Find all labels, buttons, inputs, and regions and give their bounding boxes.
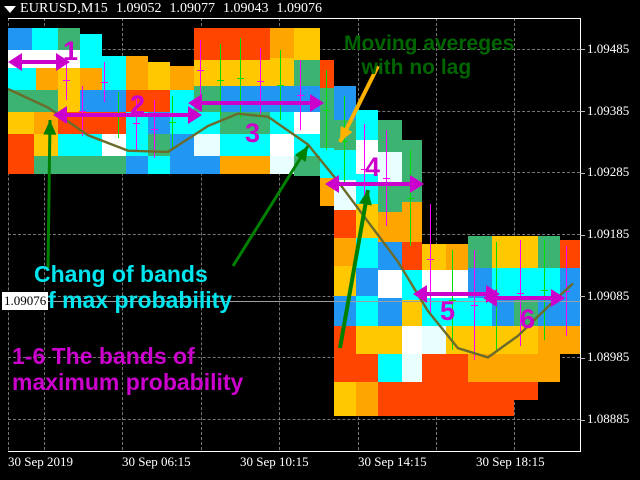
probability-cell	[356, 326, 378, 354]
probability-cell	[148, 112, 170, 134]
band-number-1: 1	[63, 36, 78, 67]
probability-cell	[220, 156, 270, 174]
probability-cell	[378, 382, 402, 416]
probability-cell	[270, 134, 294, 156]
probability-cell	[402, 270, 422, 300]
indicator-spike-cap	[169, 122, 176, 123]
probability-cell	[194, 156, 220, 174]
indicator-spike-cap	[257, 81, 264, 82]
probability-cell	[34, 156, 58, 174]
indicator-spike-cap	[101, 82, 108, 83]
probability-cell	[148, 156, 170, 174]
probability-cell	[356, 110, 378, 140]
probability-cell	[468, 382, 492, 416]
indicator-spike-cap	[151, 129, 158, 130]
probability-cell	[320, 178, 334, 206]
probability-cell	[446, 244, 468, 270]
probability-cell	[8, 28, 32, 50]
probability-cell	[320, 118, 334, 148]
time-tick-label: 30 Sep 18:15	[476, 454, 545, 470]
indicator-spike-cap	[115, 115, 122, 116]
annotation-moving-averages: Moving avereges with no lag	[344, 32, 514, 79]
probability-cell	[334, 326, 356, 354]
probability-cell	[422, 382, 446, 416]
probability-cell	[58, 68, 80, 90]
chart-plot-area[interactable]: 123456Moving avereges with no lagChang o…	[8, 18, 580, 450]
price-tick-label: 1.09185	[580, 226, 629, 242]
probability-cell	[538, 326, 560, 354]
gridline-horizontal	[8, 234, 580, 235]
indicator-spike-cap	[383, 178, 390, 179]
time-tick-label: 30 Sep 2019	[8, 454, 73, 470]
indicator-spike-cap	[517, 293, 524, 294]
probability-cell	[334, 180, 356, 210]
indicator-spike-cap	[323, 110, 330, 111]
probability-cell	[356, 354, 378, 382]
probability-cell	[58, 134, 80, 156]
current-price-tag: 1.09076	[2, 292, 48, 310]
probability-cell	[148, 134, 170, 156]
annotation-band-change: Chang of bands of max probability	[34, 262, 232, 314]
probability-cell	[194, 86, 220, 112]
probability-cell	[356, 268, 378, 296]
indicator-spike-cap	[541, 290, 548, 291]
probability-cell	[194, 112, 220, 134]
probability-cell	[446, 270, 468, 298]
probability-cell	[334, 86, 356, 120]
probability-cell	[538, 268, 560, 298]
indicator-spike-cap	[277, 85, 284, 86]
probability-cell	[270, 156, 294, 174]
probability-cell	[80, 156, 102, 174]
probability-cell	[34, 134, 58, 156]
probability-cell	[8, 90, 34, 112]
band-number-3: 3	[245, 118, 260, 149]
probability-cell	[560, 240, 580, 268]
probability-cell	[148, 90, 170, 112]
probability-cell	[58, 112, 80, 134]
indicator-spike-cap	[133, 123, 140, 124]
probability-cell	[446, 382, 468, 416]
probability-cell	[194, 60, 220, 86]
probability-cell	[220, 86, 270, 112]
probability-cell	[194, 134, 220, 156]
probability-cell	[402, 326, 422, 354]
chevron-down-icon[interactable]	[0, 0, 20, 18]
probability-cell	[378, 242, 402, 270]
indicator-spike-cap	[63, 80, 70, 81]
probability-cell	[8, 112, 34, 134]
indicator-spike-cap	[297, 95, 304, 96]
indicator-spike-cap	[79, 111, 86, 112]
indicator-spike-cap	[493, 297, 500, 298]
probability-cell	[8, 134, 34, 156]
probability-cell	[402, 354, 422, 382]
probability-cell	[170, 156, 194, 174]
probability-cell	[270, 112, 294, 134]
ohlc-open: 1.09052	[116, 1, 162, 17]
chart-title-bar: EURUSD,M15 1.09052 1.09077 1.09043 1.090…	[0, 0, 640, 18]
indicator-spike-cap	[197, 70, 204, 71]
band-number-5: 5	[440, 296, 455, 327]
probability-cell	[294, 86, 320, 112]
probability-cell	[402, 140, 422, 172]
probability-cell	[36, 68, 58, 90]
probability-cell	[356, 238, 378, 268]
time-tick-label: 30 Sep 06:15	[122, 454, 191, 470]
probability-cell	[270, 58, 294, 86]
probability-cell	[378, 270, 402, 298]
probability-cell	[34, 112, 58, 134]
probability-cell	[402, 300, 422, 326]
probability-cell	[402, 242, 422, 270]
probability-cell	[378, 326, 402, 354]
time-axis[interactable]: 30 Sep 201930 Sep 06:1530 Sep 10:1530 Se…	[0, 452, 640, 480]
price-tick-label: 1.08885	[580, 411, 629, 427]
price-tick-label: 1.09485	[580, 41, 629, 57]
time-tick-label: 30 Sep 14:15	[358, 454, 427, 470]
probability-cell	[378, 152, 402, 182]
band-number-6: 6	[520, 304, 535, 335]
probability-cell	[514, 354, 538, 382]
probability-cell	[468, 268, 492, 298]
probability-cell	[356, 204, 378, 238]
indicator-spike-cap	[237, 78, 244, 79]
probability-cell	[492, 354, 514, 382]
probability-cell	[378, 212, 402, 242]
indicator-spike-cap	[407, 198, 414, 199]
price-tick-label: 1.09385	[580, 103, 629, 119]
probability-cell	[294, 112, 320, 134]
probability-cell	[148, 62, 170, 90]
probability-cell	[270, 86, 294, 112]
probability-cell	[378, 182, 402, 212]
price-tick-label: 1.09085	[580, 288, 629, 304]
probability-cell	[102, 90, 126, 112]
probability-cell	[422, 326, 446, 354]
band-number-2: 2	[130, 90, 145, 121]
probability-cell	[378, 354, 402, 382]
indicator-spike-cap	[471, 305, 478, 306]
probability-cell	[80, 134, 102, 156]
annotation-bands-legend: 1-6 The bands of maximum probability	[12, 344, 243, 396]
probability-cell	[102, 156, 126, 174]
probability-cell	[334, 150, 356, 180]
probability-cell	[194, 28, 218, 60]
probability-cell	[294, 60, 320, 86]
indicator-spike-cap	[427, 259, 434, 260]
probability-cell	[294, 28, 320, 60]
probability-cell	[320, 60, 334, 88]
probability-cell	[32, 28, 58, 50]
chart-window: EURUSD,M15 1.09052 1.09077 1.09043 1.090…	[0, 0, 640, 480]
probability-cell	[320, 88, 334, 118]
probability-cell	[80, 34, 102, 68]
probability-cell	[34, 90, 58, 112]
probability-cell	[8, 68, 36, 90]
probability-cell	[220, 60, 270, 86]
price-axis[interactable]: 1.094851.093851.092851.091851.090851.089…	[580, 18, 640, 450]
probability-cell	[126, 134, 148, 156]
probability-cell	[422, 244, 446, 270]
probability-cell	[294, 134, 320, 156]
probability-cell	[270, 28, 294, 58]
probability-cell	[58, 156, 80, 174]
ohlc-close: 1.09076	[276, 1, 322, 17]
probability-cell	[378, 120, 402, 152]
probability-cell	[560, 326, 580, 354]
probability-cell	[402, 202, 422, 242]
probability-cell	[334, 354, 356, 382]
probability-cell	[102, 56, 126, 90]
probability-cell	[320, 148, 334, 178]
probability-cell	[422, 354, 446, 382]
probability-cell	[80, 90, 102, 112]
probability-cell	[514, 382, 538, 400]
probability-cell	[170, 112, 194, 134]
gridline-horizontal	[8, 419, 580, 420]
price-tick-label: 1.08985	[580, 349, 629, 365]
probability-cell	[468, 326, 492, 354]
probability-cell	[446, 326, 468, 354]
probability-cell	[492, 382, 514, 416]
indicator-spike-cap	[341, 141, 348, 142]
probability-cell	[218, 28, 270, 60]
probability-cell	[334, 210, 356, 238]
probability-cell	[58, 90, 80, 112]
probability-cell	[402, 382, 422, 416]
ohlc-low: 1.09043	[223, 1, 269, 17]
indicator-spike-cap	[563, 291, 570, 292]
probability-cell	[334, 120, 356, 150]
probability-cell	[334, 238, 356, 266]
symbol-label: EURUSD,M15	[20, 1, 108, 17]
probability-cell	[356, 382, 378, 416]
probability-cell	[80, 68, 102, 90]
probability-cell	[538, 354, 560, 382]
probability-cell	[334, 266, 356, 296]
ohlc-high: 1.09077	[169, 1, 215, 17]
probability-cell	[468, 236, 492, 268]
probability-cell	[560, 268, 580, 298]
indicator-spike-cap	[217, 80, 224, 81]
probability-cell	[538, 236, 560, 268]
probability-cell	[126, 156, 148, 174]
probability-cell	[170, 134, 194, 156]
probability-cell	[294, 156, 320, 176]
probability-cell	[422, 270, 446, 298]
probability-cell	[126, 56, 148, 90]
probability-cell	[8, 156, 34, 174]
time-tick-label: 30 Sep 10:15	[240, 454, 309, 470]
probability-cell	[514, 236, 538, 268]
probability-cell	[102, 134, 126, 156]
probability-cell	[446, 354, 468, 382]
probability-cell	[468, 354, 492, 382]
probability-cell	[334, 382, 356, 416]
band-number-4: 4	[365, 152, 380, 183]
probability-cell	[8, 50, 58, 68]
price-tick-label: 1.09285	[580, 164, 629, 180]
probability-cell	[170, 66, 194, 90]
probability-cell	[170, 90, 194, 112]
